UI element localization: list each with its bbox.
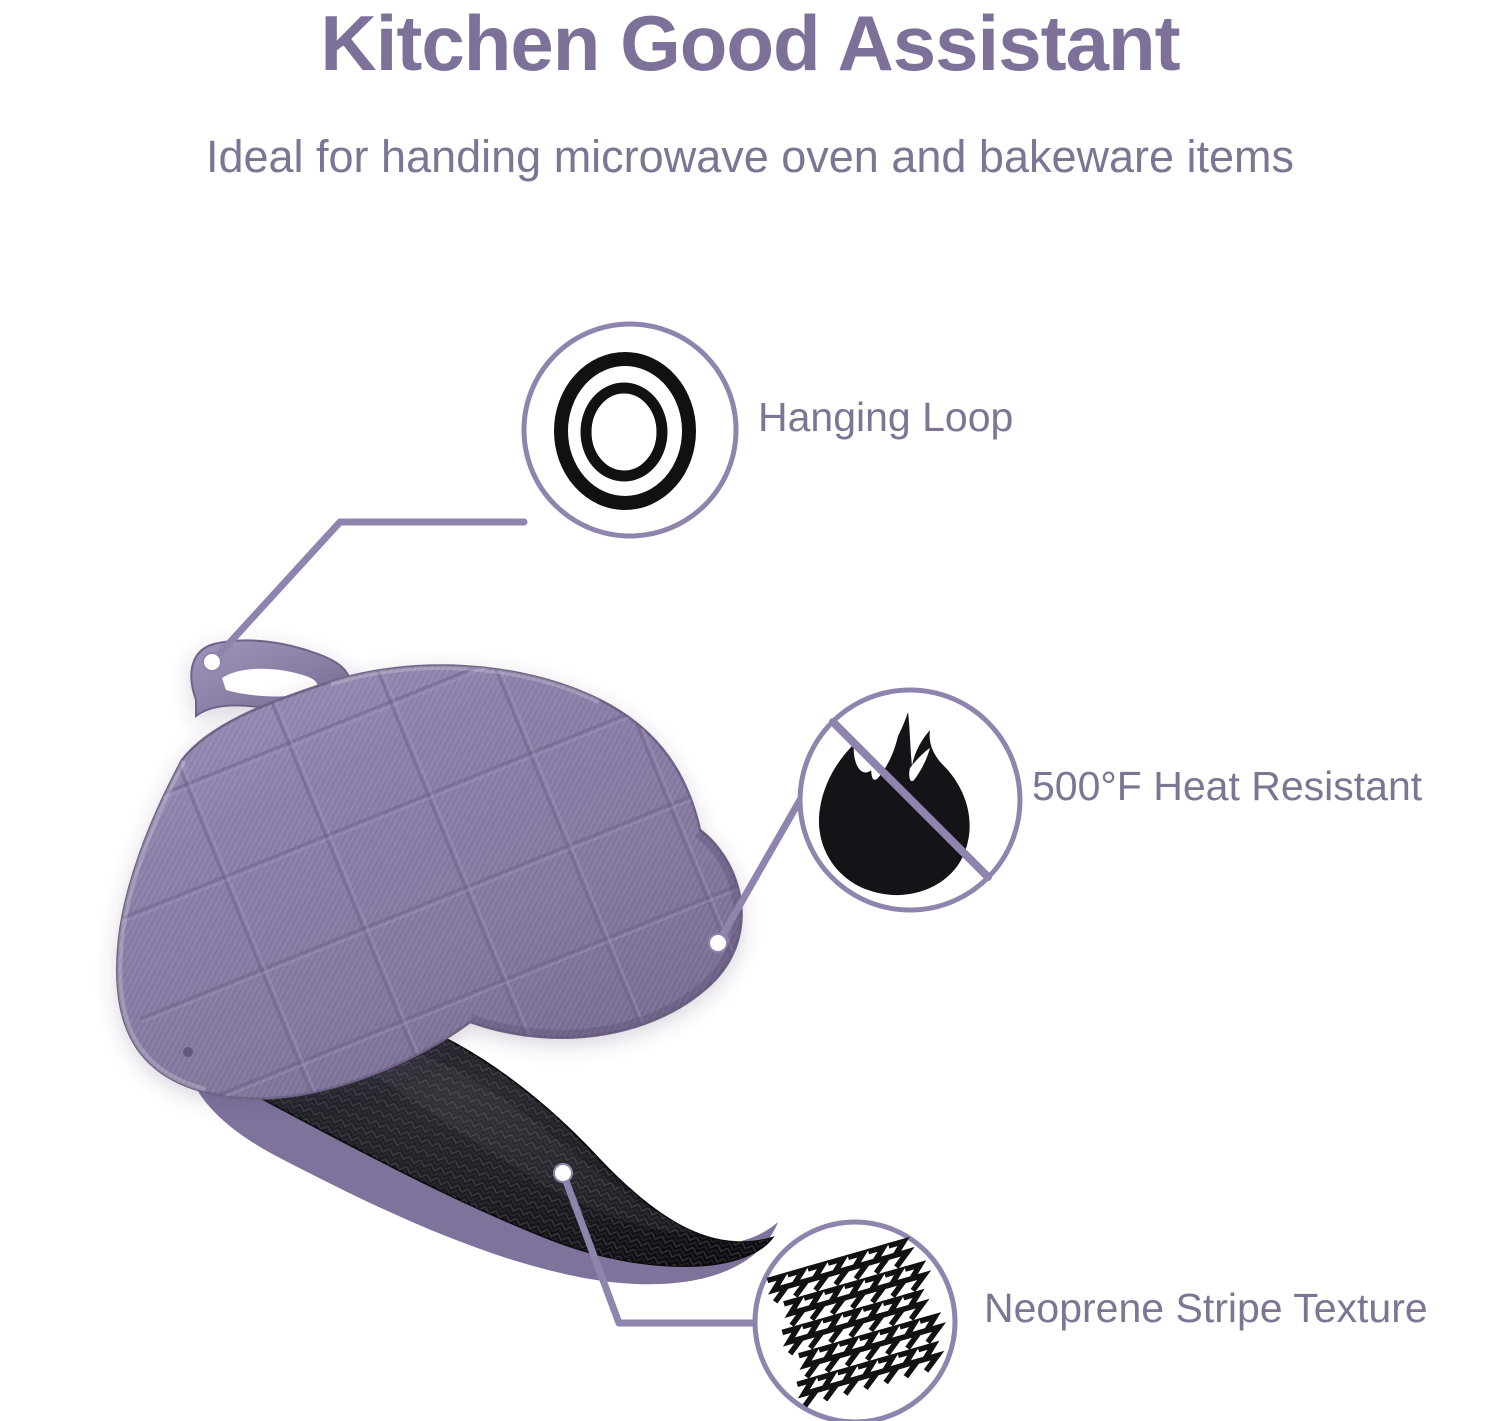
anchor-dot-neoprene-texture xyxy=(554,1164,572,1182)
header: Kitchen Good Assistant Ideal for handing… xyxy=(0,0,1500,179)
callout-label-neoprene-texture: Neoprene Stripe Texture xyxy=(984,1288,1428,1329)
zigzag-texture-icon xyxy=(770,1239,949,1404)
grommet-rings-icon xyxy=(561,359,689,503)
callout-badges xyxy=(0,0,1500,1421)
callout-badge-heat-resistant[interactable] xyxy=(800,690,1020,910)
mitt-hanging-loop xyxy=(191,640,349,716)
callout-circle-heat-resistant xyxy=(800,690,1020,910)
page-title: Kitchen Good Assistant xyxy=(0,0,1500,82)
callout-badge-hanging-loop[interactable] xyxy=(524,324,736,536)
callout-leader-lines xyxy=(0,0,1500,1421)
no-fire-icon xyxy=(819,712,988,895)
anchor-dot-hanging-loop xyxy=(203,653,221,671)
callout-circle-neoprene-texture xyxy=(755,1222,955,1421)
callout-label-hanging-loop: Hanging Loop xyxy=(758,397,1013,438)
leader-line-hanging-loop xyxy=(212,522,524,662)
leader-line-heat-resistant xyxy=(718,800,800,943)
callout-circle-hanging-loop xyxy=(524,324,736,536)
neoprene-grip-panel xyxy=(196,1005,772,1266)
callout-badge-neoprene-texture[interactable] xyxy=(755,1222,955,1421)
page-subtitle: Ideal for handing microwave oven and bak… xyxy=(0,82,1500,179)
anchor-dot-heat-resistant xyxy=(709,934,727,952)
leader-line-neoprene-texture xyxy=(563,1173,755,1323)
mitt-back-trim xyxy=(185,1040,778,1284)
callout-label-heat-resistant: 500°F Heat Resistant xyxy=(1032,766,1422,807)
product-image xyxy=(0,0,1500,1421)
mitt-front-face xyxy=(28,444,967,1250)
